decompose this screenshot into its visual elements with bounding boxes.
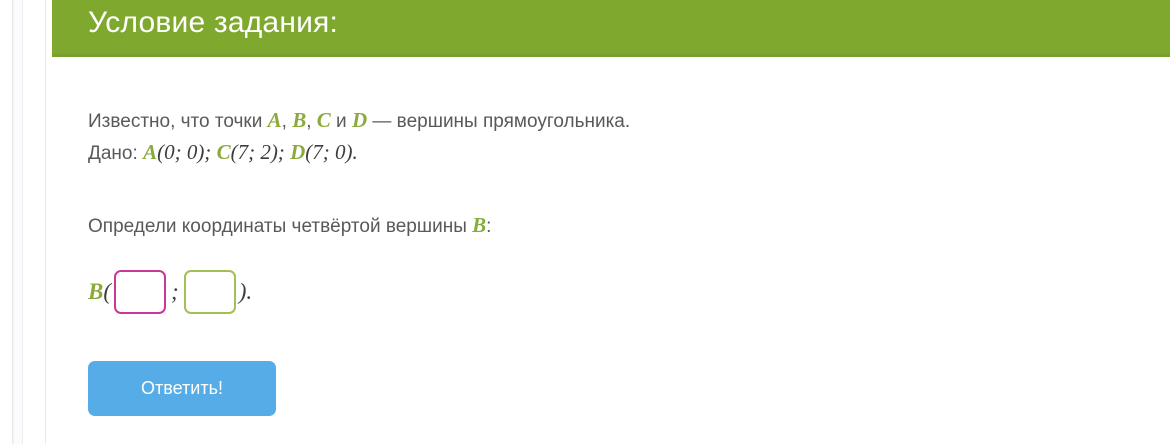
task-header-title: Условие задания: xyxy=(88,6,338,40)
answer-x-input[interactable] xyxy=(114,270,166,314)
task-body: Известно, что точки A, B, C и D — вершин… xyxy=(52,57,1170,444)
statement-conjunction: и xyxy=(331,111,352,132)
exercise-page: Условие задания: Известно, что точки A, … xyxy=(0,0,1170,444)
statement-var-d: D xyxy=(352,108,367,132)
given-point-a-coords: (0; 0); xyxy=(157,140,216,164)
page-left-margin xyxy=(0,0,12,444)
question-var-b: B xyxy=(472,213,486,237)
statement-var-b: B xyxy=(292,108,306,132)
statement-var-a: A xyxy=(268,108,282,132)
given-point-c-name: C xyxy=(217,140,231,164)
answer-point-name: B xyxy=(88,279,103,305)
statement-sep-1: , xyxy=(282,111,293,132)
question-line: Определи координаты четвёртой вершины B: xyxy=(88,209,491,243)
given-line: Дано: A(0; 0); C(7; 2); D(7; 0). xyxy=(88,136,358,170)
task-card-left-border xyxy=(45,0,46,444)
task-header-bar: Условие задания: xyxy=(52,0,1170,57)
answer-close-paren: ). xyxy=(239,279,252,305)
statement-var-c: C xyxy=(317,108,331,132)
answer-y-input[interactable] xyxy=(184,270,236,314)
statement-line: Известно, что точки A, B, C и D — вершин… xyxy=(88,104,630,138)
answer-row: B(;). xyxy=(88,269,252,315)
given-label: Дано: xyxy=(88,143,143,164)
statement-tail-text: — вершины прямоугольника. xyxy=(367,111,630,132)
given-point-a-name: A xyxy=(143,140,157,164)
statement-lead-text: Известно, что точки xyxy=(88,111,268,132)
answer-open-paren: ( xyxy=(103,279,111,305)
answer-separator: ; xyxy=(169,279,181,305)
question-lead-text: Определи координаты четвёртой вершины xyxy=(88,216,472,237)
given-point-d-name: D xyxy=(290,140,305,164)
page-rail-gap xyxy=(14,0,22,444)
question-tail-text: : xyxy=(486,216,491,237)
statement-sep-2: , xyxy=(306,111,317,132)
given-point-d-coords: (7; 0). xyxy=(305,140,357,164)
submit-answer-button[interactable]: Ответить! xyxy=(88,361,276,416)
given-point-c-coords: (7; 2); xyxy=(231,140,290,164)
